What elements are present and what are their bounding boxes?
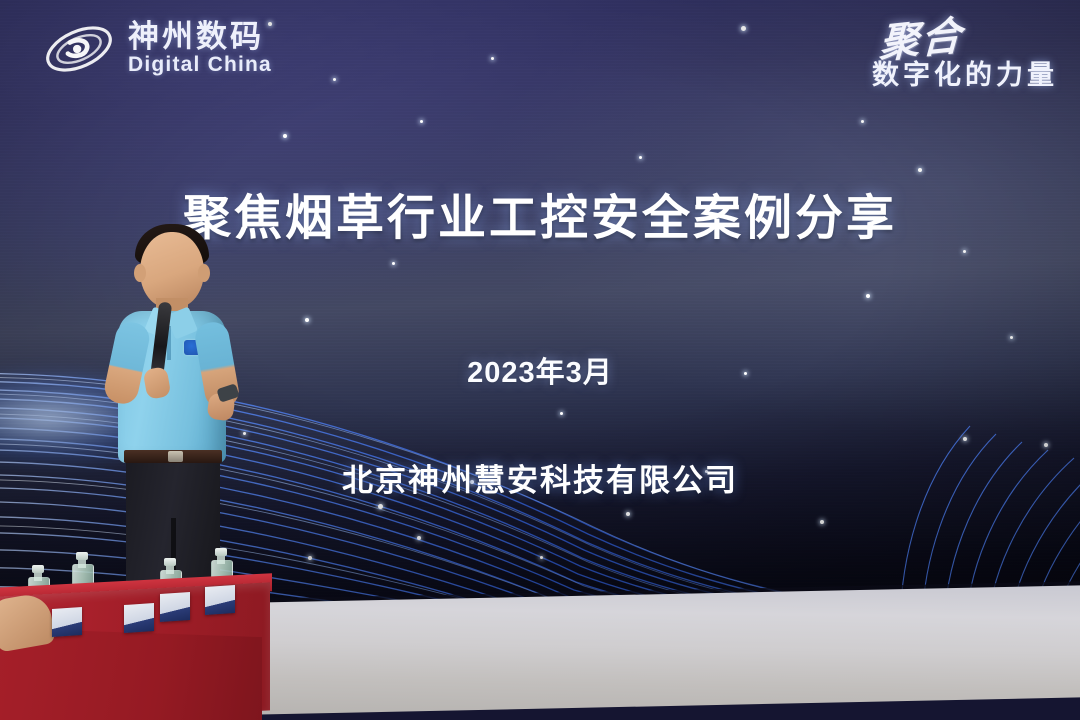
particle — [392, 262, 395, 265]
logo-text-cn: 神州数码 — [128, 21, 272, 53]
digital-china-logo: 神州数码 Digital China — [42, 18, 272, 80]
particle — [866, 294, 870, 298]
particle — [741, 26, 746, 31]
bottle-cap — [215, 548, 227, 556]
brand-subtitle-text: 数字化的力量 — [778, 62, 1058, 89]
particle — [861, 120, 864, 123]
digital-china-swirl-icon — [42, 18, 116, 80]
speaker-ear-left — [134, 264, 146, 282]
particle — [639, 156, 642, 159]
name-card — [205, 585, 235, 615]
speaker-belt-buckle — [168, 451, 183, 462]
particle — [333, 78, 336, 81]
bottle-cap — [76, 552, 88, 560]
speaker-ear-right — [198, 264, 210, 282]
particle — [963, 250, 966, 253]
name-card — [52, 607, 82, 637]
bottle-cap — [164, 558, 176, 566]
event-brand-lockup: 聚合 数字化的力量 — [778, 16, 1058, 89]
name-card — [124, 603, 154, 633]
brand-script-text: 聚合 — [878, 16, 963, 65]
bottle-cap — [32, 565, 44, 573]
particle — [918, 168, 922, 172]
conference-photo: 神州数码 Digital China 聚合 数字化的力量 聚焦烟草行业工控安全案… — [0, 0, 1080, 720]
particle — [491, 57, 494, 60]
speaker-head — [140, 232, 204, 308]
logo-text-en: Digital China — [128, 53, 272, 77]
particle — [420, 120, 423, 123]
name-card — [160, 592, 190, 622]
particle — [283, 134, 287, 138]
particle — [305, 318, 309, 322]
